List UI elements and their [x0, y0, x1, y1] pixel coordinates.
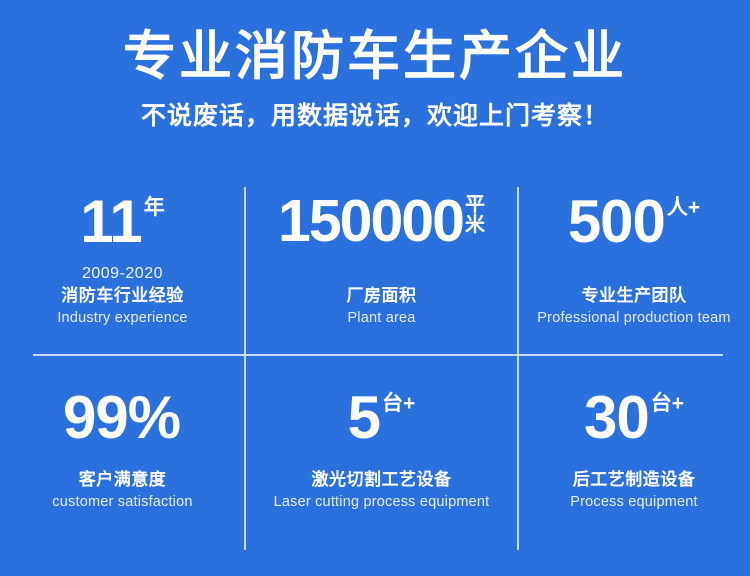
vertical-divider-right — [517, 187, 519, 550]
vertical-divider-left — [244, 187, 246, 550]
stat-number: 30 — [584, 389, 649, 448]
stats-row-top: 11 年 2009-2020 消防车行业经验 Industry experien… — [0, 187, 750, 355]
stat-value-line: 500 人+ — [568, 193, 700, 259]
stats-banner: 专业消防车生产企业 不说废话，用数据说话，欢迎上门考察！ 11 年 2009-2… — [0, 0, 750, 576]
stat-value-line: 30 台+ — [584, 389, 684, 455]
stat-label-cn: 后工艺制造设备 — [573, 469, 696, 491]
stat-unit: 年 — [144, 193, 165, 219]
stat-number: 5 — [348, 389, 380, 448]
stat-label-cn: 激光切割工艺设备 — [312, 469, 452, 491]
stat-number: 500 — [568, 193, 665, 252]
stats-grid: 11 年 2009-2020 消防车行业经验 Industry experien… — [0, 187, 750, 551]
stat-unit-line2: 米 — [465, 215, 485, 235]
stats-row-bottom: 99% 客户满意度 customer satisfaction 5 台+ 激光切… — [0, 383, 750, 551]
stat-number: 11 — [80, 193, 141, 252]
stat-cell-production-team: 500 人+ 专业生产团队 Professional production te… — [518, 187, 750, 355]
stat-unit-line1: 平 — [465, 195, 485, 215]
subheadline: 不说废话，用数据说话，欢迎上门考察！ — [0, 101, 750, 131]
stat-value-line: 11 年 — [80, 193, 164, 259]
stat-cell-customer-satisfaction: 99% 客户满意度 customer satisfaction — [0, 383, 245, 551]
stat-year-range: 2009-2020 — [82, 265, 163, 283]
stat-label-cn: 厂房面积 — [347, 285, 417, 307]
stat-cell-industry-experience: 11 年 2009-2020 消防车行业经验 Industry experien… — [0, 187, 245, 355]
horizontal-divider — [33, 354, 723, 356]
stat-label-cn: 客户满意度 — [79, 469, 167, 491]
stat-value-line: 99% — [63, 389, 182, 455]
stat-unit: 平 米 — [465, 193, 485, 236]
stat-value-line: 5 台+ — [348, 389, 416, 455]
stat-cell-laser-cutting-equipment: 5 台+ 激光切割工艺设备 Laser cutting process equi… — [245, 383, 518, 551]
stat-cell-process-equipment: 30 台+ 后工艺制造设备 Process equipment — [518, 383, 750, 551]
banner-header: 专业消防车生产企业 不说废话，用数据说话，欢迎上门考察！ — [0, 0, 750, 131]
stat-number: 150000 — [278, 193, 463, 251]
stat-label-cn: 专业生产团队 — [582, 285, 687, 307]
stat-value-line: 150000 平 米 — [278, 193, 485, 259]
stat-unit: 人+ — [667, 193, 700, 219]
stat-label-en: Industry experience — [57, 309, 187, 328]
stat-number: 99% — [63, 389, 180, 448]
stat-cell-plant-area: 150000 平 米 厂房面积 Plant area — [245, 187, 518, 355]
stat-label-en: Professional production team — [537, 309, 730, 328]
stat-label-cn: 消防车行业经验 — [61, 285, 184, 307]
stat-label-en: customer satisfaction — [52, 493, 192, 512]
stat-label-en: Process equipment — [570, 493, 698, 512]
stat-label-en: Plant area — [347, 309, 415, 328]
stat-label-en: Laser cutting process equipment — [274, 493, 490, 512]
headline: 专业消防车生产企业 — [0, 26, 750, 89]
stat-unit: 台+ — [651, 389, 684, 415]
stat-unit: 台+ — [382, 389, 415, 415]
